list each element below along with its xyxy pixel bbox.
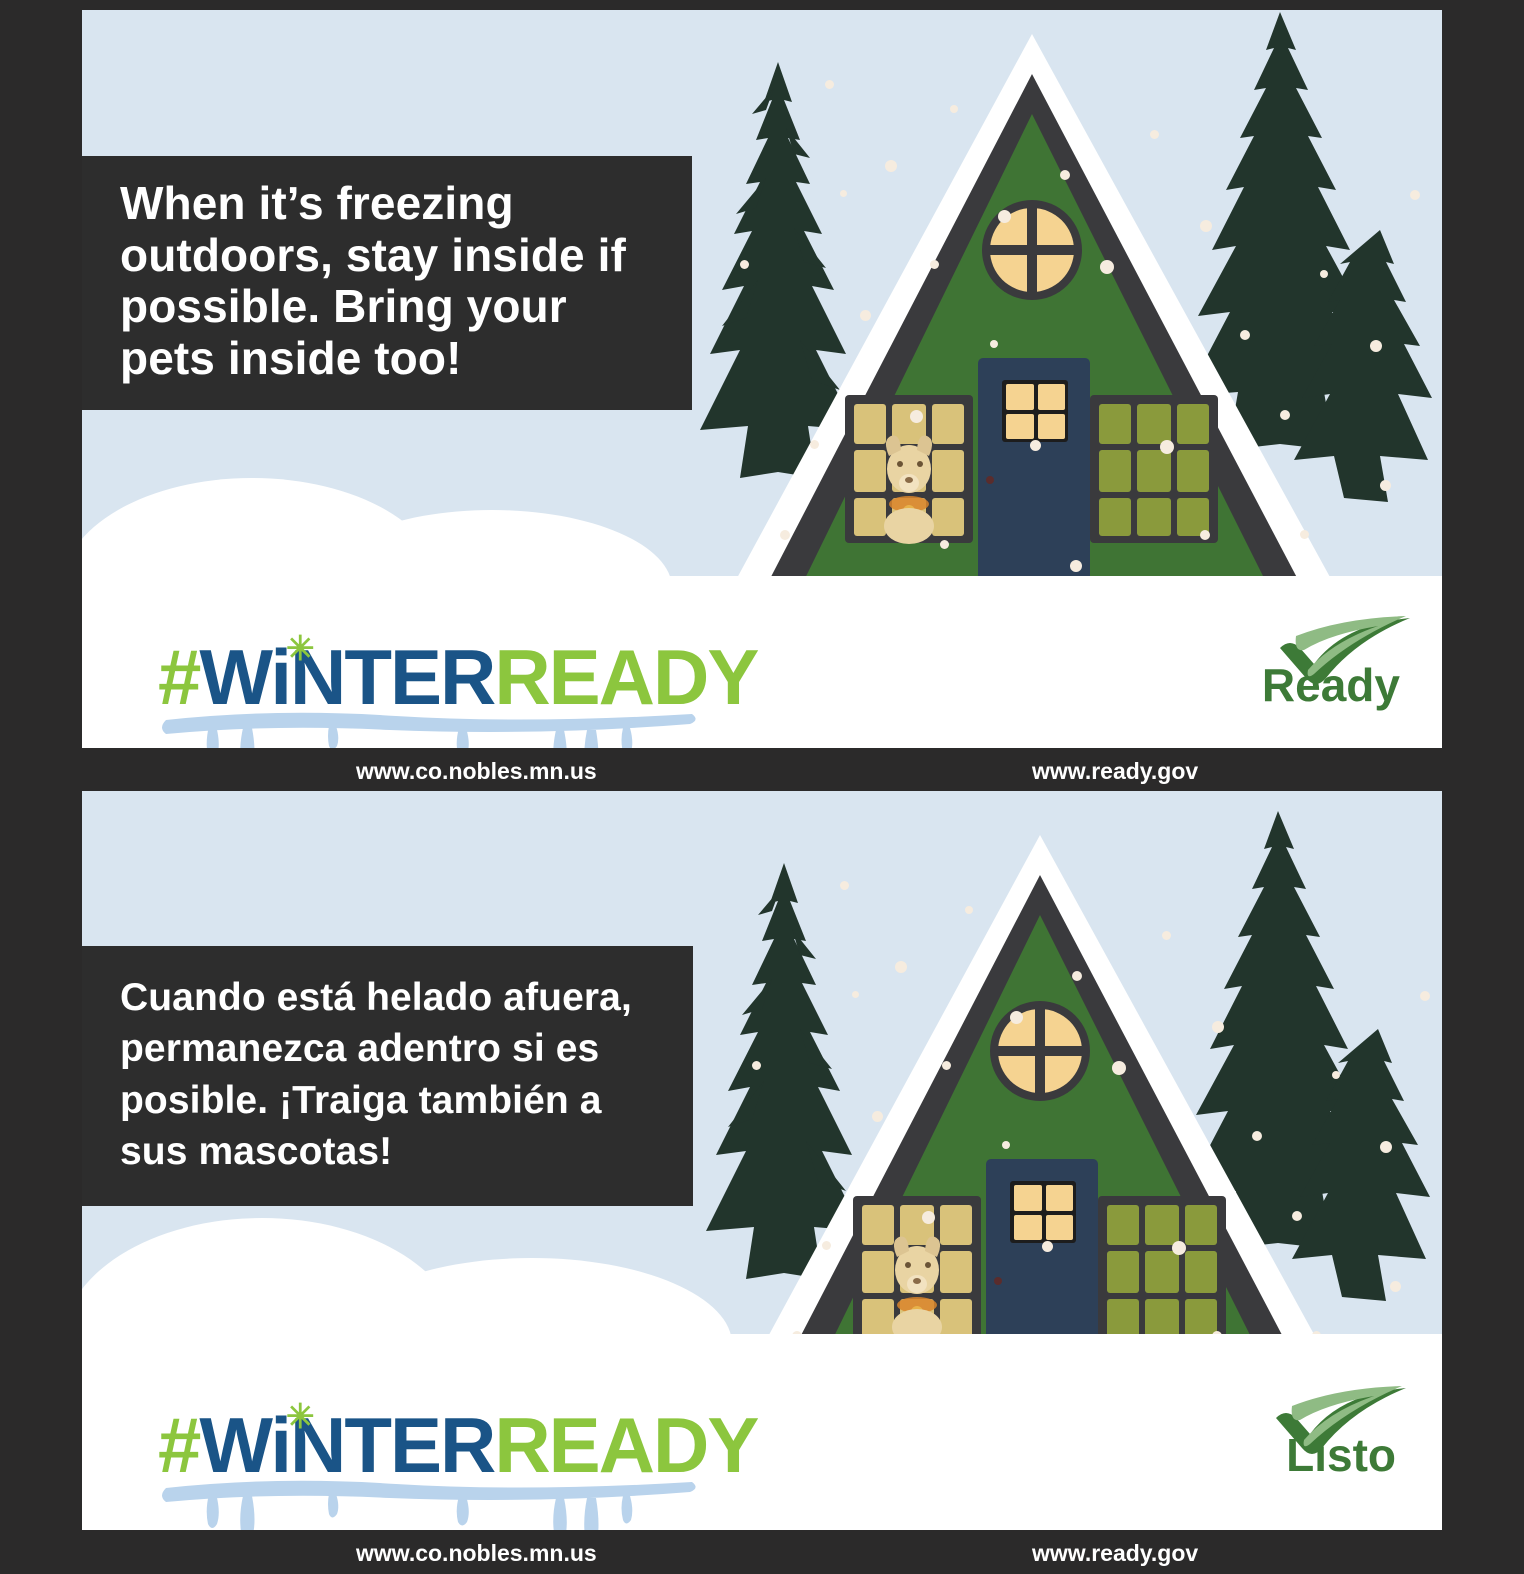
listo-logo-spanish: Listo bbox=[1286, 1432, 1396, 1478]
county-url-spanish[interactable]: www.co.nobles.mn.us bbox=[356, 1540, 597, 1567]
snowflake-icon-spanish: ✳ bbox=[286, 1400, 313, 1434]
winterready-logo-english: #WiNTERREADY ✳ bbox=[158, 638, 757, 716]
poster-frame: When it’s freezing outdoors, stay inside… bbox=[0, 0, 1524, 1571]
checkmark-icon-spanish bbox=[1262, 1384, 1412, 1454]
winterready-logo-spanish: #WiNTERREADY ✳ bbox=[158, 1406, 757, 1484]
url-bar-spanish: www.co.nobles.mn.us www.ready.gov bbox=[82, 1534, 1442, 1574]
icicle-drips-icon bbox=[160, 706, 700, 748]
panel-english: When it’s freezing outdoors, stay inside… bbox=[82, 10, 1442, 748]
url-bar-english: www.co.nobles.mn.us www.ready.gov bbox=[82, 752, 1442, 792]
ready-logo-english: Ready bbox=[1262, 662, 1400, 708]
headline-english: When it’s freezing outdoors, stay inside… bbox=[82, 156, 692, 410]
panel-spanish: Cuando está helado afuera, permanezca ad… bbox=[82, 791, 1442, 1530]
ready-url-spanish[interactable]: www.ready.gov bbox=[1032, 1540, 1198, 1567]
snowflake-icon: ✳ bbox=[286, 632, 313, 666]
ready-url-english[interactable]: www.ready.gov bbox=[1032, 758, 1198, 785]
county-url-english[interactable]: www.co.nobles.mn.us bbox=[356, 758, 597, 785]
checkmark-icon bbox=[1266, 614, 1416, 684]
icicle-drips-icon-spanish bbox=[160, 1474, 700, 1530]
headline-spanish: Cuando está helado afuera, permanezca ad… bbox=[82, 946, 693, 1206]
